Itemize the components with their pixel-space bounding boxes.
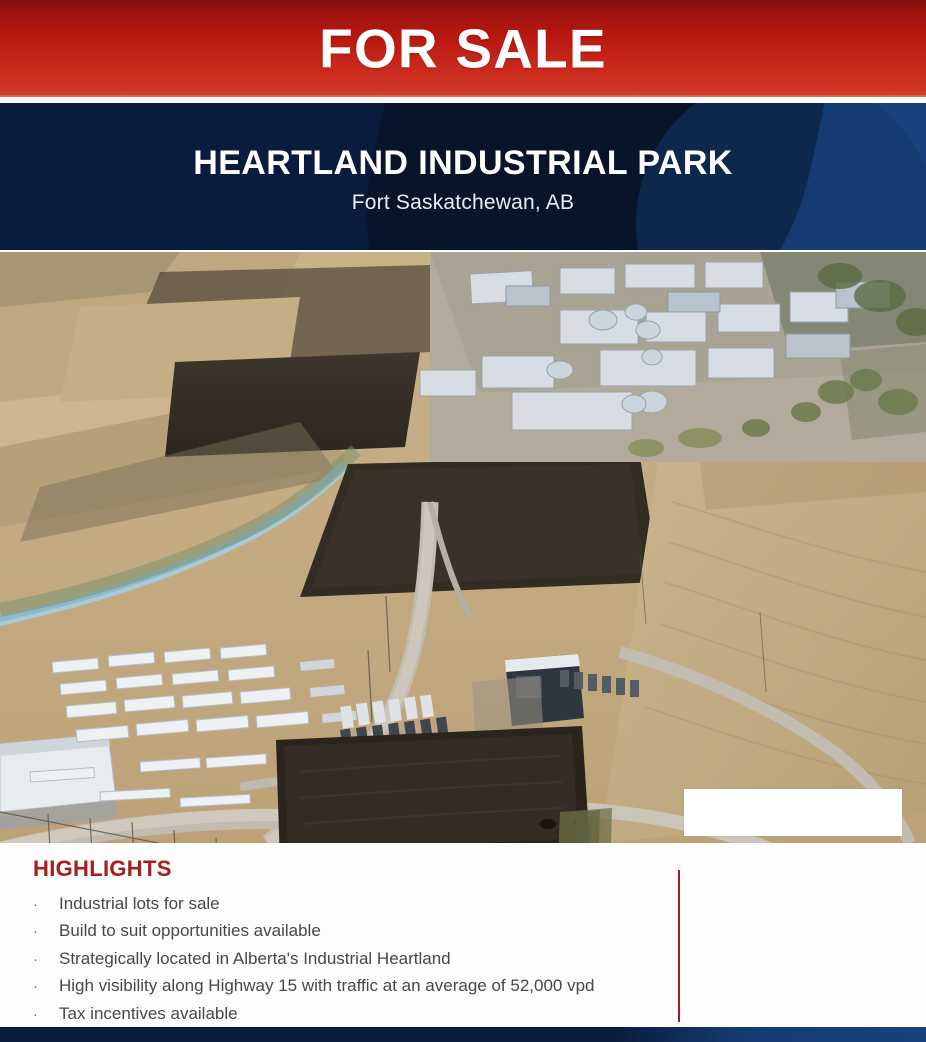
footer-wedge-shape xyxy=(616,1027,926,1042)
logo-plate xyxy=(684,789,902,836)
page-title: HEARTLAND INDUSTRIAL PARK xyxy=(193,146,733,182)
list-item-label: Strategically located in Alberta's Indus… xyxy=(59,948,595,970)
list-item: · Build to suit opportunities available xyxy=(33,920,595,942)
footer-bar xyxy=(0,1027,926,1042)
list-item: · Tax incentives available xyxy=(33,1003,595,1025)
list-item-label: Build to suit opportunities available xyxy=(59,920,595,942)
highlights-section: HIGHLIGHTS · Industrial lots for sale · … xyxy=(0,843,926,1027)
list-item-label: Tax incentives available xyxy=(59,1003,595,1025)
list-item: · High visibility along Highway 15 with … xyxy=(33,975,595,997)
bullet-dot-icon: · xyxy=(33,950,59,970)
brochure-page: FOR SALE HEARTLAND INDUSTRIAL PARK Fort … xyxy=(0,0,926,1042)
title-banner-content: HEARTLAND INDUSTRIAL PARK Fort Saskatche… xyxy=(0,103,926,250)
property-location: Fort Saskatchewan, AB xyxy=(352,191,574,215)
list-item-label: High visibility along Highway 15 with tr… xyxy=(59,975,595,997)
section-divider xyxy=(678,870,680,1022)
for-sale-banner: FOR SALE xyxy=(0,0,926,97)
aerial-photo-graphic xyxy=(0,252,926,843)
title-banner: HEARTLAND INDUSTRIAL PARK Fort Saskatche… xyxy=(0,103,926,250)
bullet-dot-icon: · xyxy=(33,1005,59,1025)
list-item: · Strategically located in Alberta's Ind… xyxy=(33,948,595,970)
bullet-dot-icon: · xyxy=(33,922,59,942)
list-item: · Industrial lots for sale xyxy=(33,893,595,915)
bullet-dot-icon: · xyxy=(33,895,59,915)
aerial-photo xyxy=(0,252,926,843)
list-item-label: Industrial lots for sale xyxy=(59,893,595,915)
highlights-heading: HIGHLIGHTS xyxy=(33,856,172,882)
for-sale-label: FOR SALE xyxy=(0,21,926,76)
highlights-list: · Industrial lots for sale · Build to su… xyxy=(33,893,595,1030)
bullet-dot-icon: · xyxy=(33,977,59,997)
